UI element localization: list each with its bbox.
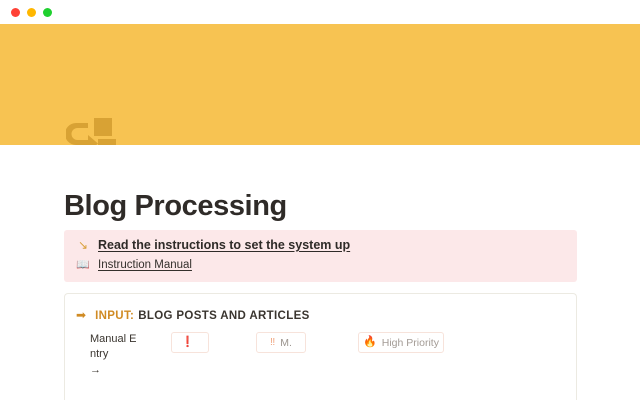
input-card: ➡ INPUT:BLOG POSTS AND ARTICLES Manual E… (64, 293, 577, 400)
open-book-icon: 📖 (76, 258, 90, 273)
callout-secondary-row: 📖 Instruction Manual (64, 258, 577, 273)
read-instructions-link[interactable]: Read the instructions to set the system … (98, 238, 350, 253)
window-title-bar (0, 0, 640, 24)
arrow-right-icon: ➡ (76, 308, 86, 322)
input-key-label: INPUT: (95, 310, 134, 322)
chip-double-exclamation-label: M. (280, 337, 292, 349)
instruction-callout: ↘ Read the instructions to set the syste… (64, 230, 577, 282)
window-minimize-button[interactable] (27, 8, 36, 17)
chip-double-exclamation[interactable]: ‼ M. (256, 332, 306, 353)
chip-exclamation[interactable]: ❗ (171, 332, 209, 353)
double-exclamation-icon: ‼ (270, 337, 275, 348)
page-title: Blog Processing (64, 190, 287, 223)
exclamation-icon: ❗ (181, 337, 194, 348)
window-maximize-button[interactable] (43, 8, 52, 17)
fire-icon: 🔥 (363, 337, 377, 348)
manual-entry-label: Manual Entry (90, 333, 136, 360)
input-section-header: ➡ INPUT:BLOG POSTS AND ARTICLES (65, 294, 576, 324)
input-value-label: BLOG POSTS AND ARTICLES (138, 310, 309, 322)
manual-entry-arrow-icon: → (90, 363, 137, 378)
arrow-down-right-icon: ↘ (76, 238, 90, 253)
input-header-text: INPUT:BLOG POSTS AND ARTICLES (95, 306, 310, 324)
manual-entry-cell[interactable]: Manual Entry → (90, 332, 137, 378)
window-close-button[interactable] (11, 8, 20, 17)
page-content: Blog Processing ↘ Read the instructions … (0, 145, 640, 400)
chip-high-priority-label: High Priority (382, 337, 439, 349)
chip-high-priority[interactable]: 🔥 High Priority (358, 332, 444, 353)
instruction-manual-link[interactable]: Instruction Manual (98, 258, 192, 273)
input-chip-row: Manual Entry → ❗ ‼ M. 🔥 High Priority (90, 332, 576, 378)
callout-primary-row: ↘ Read the instructions to set the syste… (64, 238, 577, 253)
